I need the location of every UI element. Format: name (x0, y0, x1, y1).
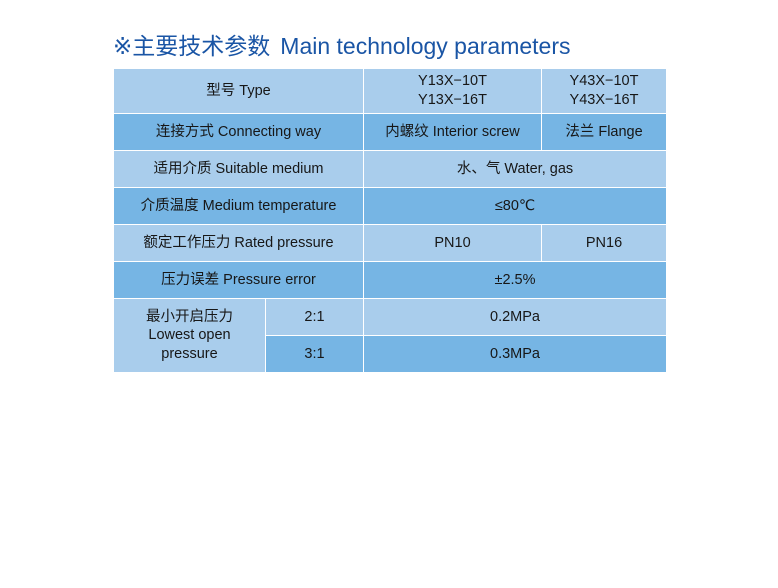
cell-type-y13x-line2: Y13X−16T (370, 91, 535, 110)
table-row: 型号 Type Y13X−10T Y13X−16T Y43X−10T Y43X−… (114, 69, 667, 114)
table-row: 连接方式 Connecting way 内螺纹 Interior screw 法… (114, 114, 667, 151)
cell-connecting-way-flange: 法兰 Flange (542, 114, 667, 151)
cell-type-y13x: Y13X−10T Y13X−16T (364, 69, 542, 114)
table-row: 额定工作压力 Rated pressure PN10 PN16 (114, 225, 667, 262)
cell-rated-pressure-pn10: PN10 (364, 225, 542, 262)
cell-lowest-open-pressure-2to1-value: 0.2MPa (364, 299, 667, 336)
page-title-cn: 主要技术参数 (132, 33, 270, 59)
cell-type-y43x-line1: Y43X−10T (548, 72, 660, 91)
cell-medium-temperature-value: ≤80℃ (364, 188, 667, 225)
table-row: 介质温度 Medium temperature ≤80℃ (114, 188, 667, 225)
row-label-pressure-error: 压力误差 Pressure error (114, 262, 364, 299)
row-label-type: 型号 Type (114, 69, 364, 114)
row-label-lowest-open-pressure: 最小开启压力 Lowest open pressure (114, 299, 266, 373)
table-row: 最小开启压力 Lowest open pressure 2:1 0.2MPa (114, 299, 667, 336)
cell-type-y13x-line1: Y13X−10T (370, 72, 535, 91)
row-label-medium-temperature: 介质温度 Medium temperature (114, 188, 364, 225)
table-row: 适用介质 Suitable medium 水、气 Water, gas (114, 151, 667, 188)
row-label-connecting-way: 连接方式 Connecting way (114, 114, 364, 151)
cell-pressure-error-value: ±2.5% (364, 262, 667, 299)
main-technology-parameters-table: 型号 Type Y13X−10T Y13X−16T Y43X−10T Y43X−… (113, 68, 667, 373)
cell-lowest-open-pressure-3to1-value: 0.3MPa (364, 336, 667, 373)
cell-ratio-3to1: 3:1 (266, 336, 364, 373)
cell-suitable-medium-value: 水、气 Water, gas (364, 151, 667, 188)
row-label-rated-pressure: 额定工作压力 Rated pressure (114, 225, 364, 262)
row-label-suitable-medium: 适用介质 Suitable medium (114, 151, 364, 188)
page-title-marker: ※ (113, 33, 132, 59)
cell-rated-pressure-pn16: PN16 (542, 225, 667, 262)
slide-canvas: ※主要技术参数Main technology parameters 型号 Typ… (0, 0, 778, 588)
table-row: 压力误差 Pressure error ±2.5% (114, 262, 667, 299)
page-title-en: Main technology parameters (280, 33, 570, 59)
cell-connecting-way-interior-screw: 内螺纹 Interior screw (364, 114, 542, 151)
page-title: ※主要技术参数Main technology parameters (113, 31, 571, 61)
cell-type-y43x: Y43X−10T Y43X−16T (542, 69, 667, 114)
cell-ratio-2to1: 2:1 (266, 299, 364, 336)
lowest-open-pressure-label-line3: pressure (120, 345, 259, 364)
lowest-open-pressure-label-line2: Lowest open (120, 326, 259, 345)
lowest-open-pressure-label-line1: 最小开启压力 (120, 308, 259, 327)
cell-type-y43x-line2: Y43X−16T (548, 91, 660, 110)
